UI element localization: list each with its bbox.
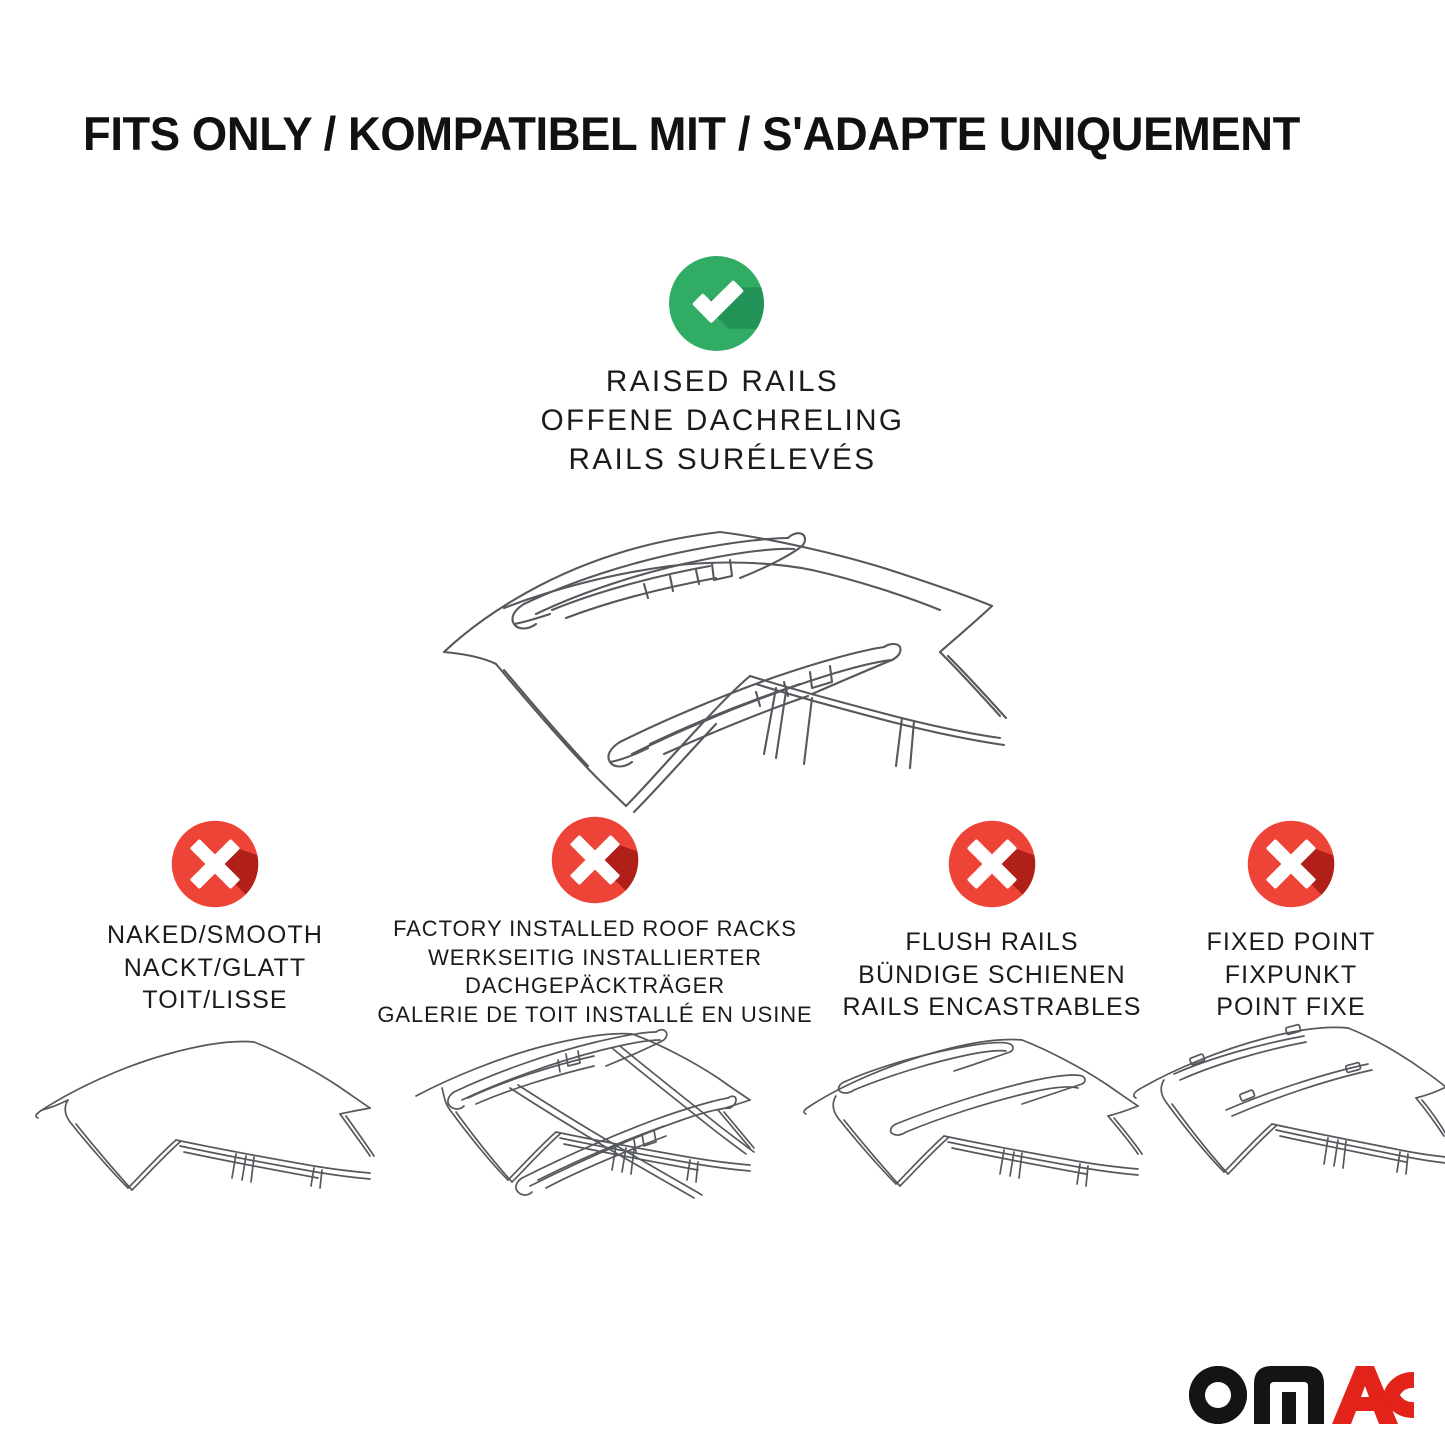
label-line-en: NAKED/SMOOTH (55, 919, 375, 952)
incompatible-label-naked-smooth: NAKED/SMOOTH NACKT/GLATT TOIT/LISSE (55, 919, 375, 1017)
label-line-de: FIXPUNKT (1160, 959, 1422, 992)
incompatible-label-factory-roof-racks: FACTORY INSTALLED ROOF RACKS WERKSEITIG … (360, 915, 830, 1029)
label-line-de: BÜNDIGE SCHIENEN (832, 959, 1152, 992)
label-line-de-1: WERKSEITIG INSTALLIERTER (360, 944, 830, 973)
label-line-de: NACKT/GLATT (55, 952, 375, 985)
car-roof-flush-rails-illustration (788, 1018, 1148, 1268)
compatible-label-line-fr: RAILS SURÉLEVÉS (7, 440, 1438, 479)
compatible-label: RAISED RAILS OFFENE DACHRELING RAILS SUR… (0, 362, 1445, 479)
car-roof-naked-smooth-illustration (18, 1018, 378, 1268)
car-roof-raised-rails-illustration (420, 492, 1040, 792)
label-line-en: FLUSH RAILS (832, 926, 1152, 959)
incompatible-label-flush-rails: FLUSH RAILS BÜNDIGE SCHIENEN RAILS ENCAS… (832, 926, 1152, 1024)
label-line-de-2: DACHGEPÄCKTRÄGER (360, 972, 830, 1001)
incompatible-label-fixed-point: FIXED POINT FIXPUNKT POINT FIXE (1160, 926, 1422, 1024)
omac-logo-m (1254, 1366, 1324, 1424)
check-circle-icon (666, 253, 767, 354)
label-line-fr: TOIT/LISSE (55, 984, 375, 1017)
car-roof-fixed-point-illustration (1128, 1018, 1445, 1268)
cross-circle-icon (549, 814, 641, 906)
omac-logo (1184, 1362, 1414, 1424)
fitment-guide-page: FITS ONLY / KOMPATIBEL MIT / S'ADAPTE UN… (0, 0, 1445, 1445)
cross-circle-icon (169, 818, 261, 910)
cross-circle-icon (946, 818, 1038, 910)
label-line-en: FACTORY INSTALLED ROOF RACKS (360, 915, 830, 944)
compatible-label-line-de: OFFENE DACHRELING (7, 401, 1438, 440)
compatible-label-line-en: RAISED RAILS (7, 362, 1438, 401)
page-title: FITS ONLY / KOMPATIBEL MIT / S'ADAPTE UN… (83, 106, 1300, 161)
label-line-en: FIXED POINT (1160, 926, 1422, 959)
car-roof-factory-roof-racks-illustration (398, 1018, 758, 1268)
omac-logo-o (1189, 1366, 1247, 1424)
cross-circle-icon (1245, 818, 1337, 910)
